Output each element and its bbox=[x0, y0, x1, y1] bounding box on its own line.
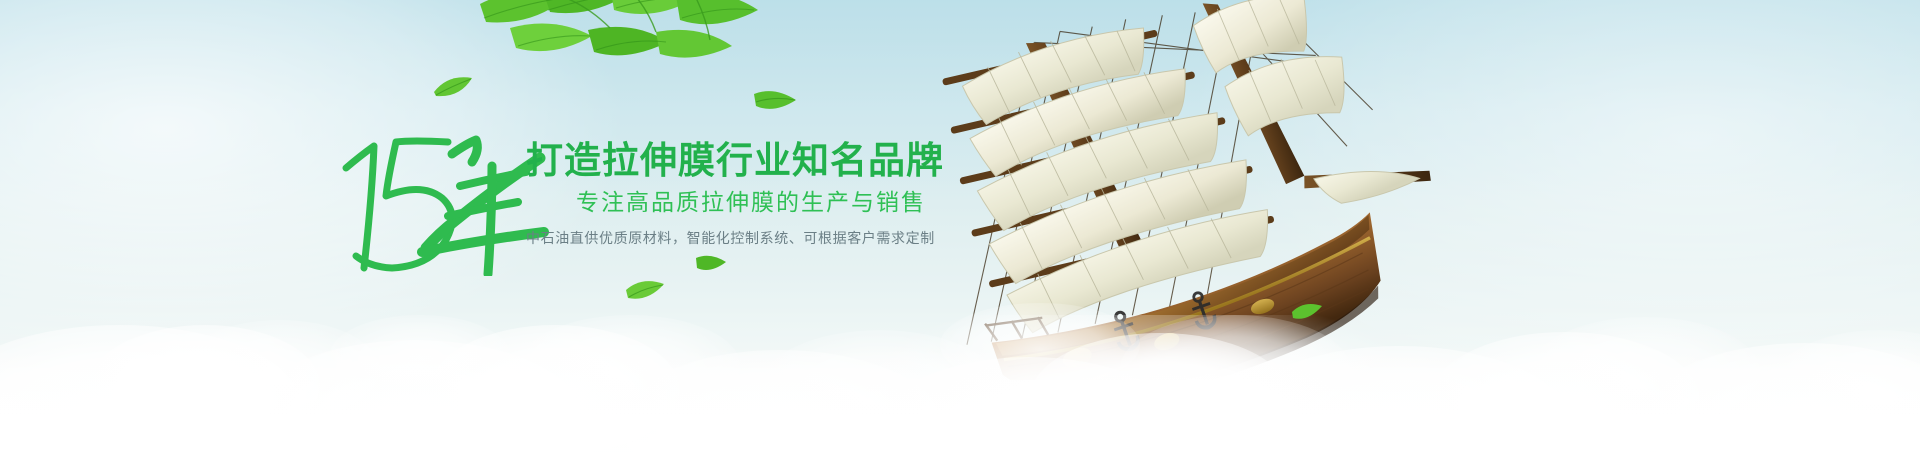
leaf-floating-5 bbox=[1290, 300, 1324, 322]
leaf-floating-1 bbox=[432, 74, 474, 100]
promo-banner: 打造拉伸膜行业知名品牌 专注高品质拉伸膜的生产与销售 中石油直供优质原材料，智能… bbox=[0, 0, 1920, 475]
ship-sea-mist bbox=[860, 315, 1420, 475]
banner-tagline: 中石油直供优质原材料，智能化控制系统、可根据客户需求定制 bbox=[526, 231, 935, 245]
sky-haze-right bbox=[1200, 0, 1920, 400]
cloud-bank bbox=[0, 215, 1920, 475]
banner-copy-block: 打造拉伸膜行业知名品牌 专注高品质拉伸膜的生产与销售 中石油直供优质原材料，智能… bbox=[330, 108, 930, 303]
banner-headline: 打造拉伸膜行业知名品牌 bbox=[526, 142, 944, 179]
sky-gradient-top bbox=[0, 0, 1920, 200]
leaf-cluster-top bbox=[470, 0, 770, 92]
banner-subheadline: 专注高品质拉伸膜的生产与销售 bbox=[576, 191, 926, 214]
